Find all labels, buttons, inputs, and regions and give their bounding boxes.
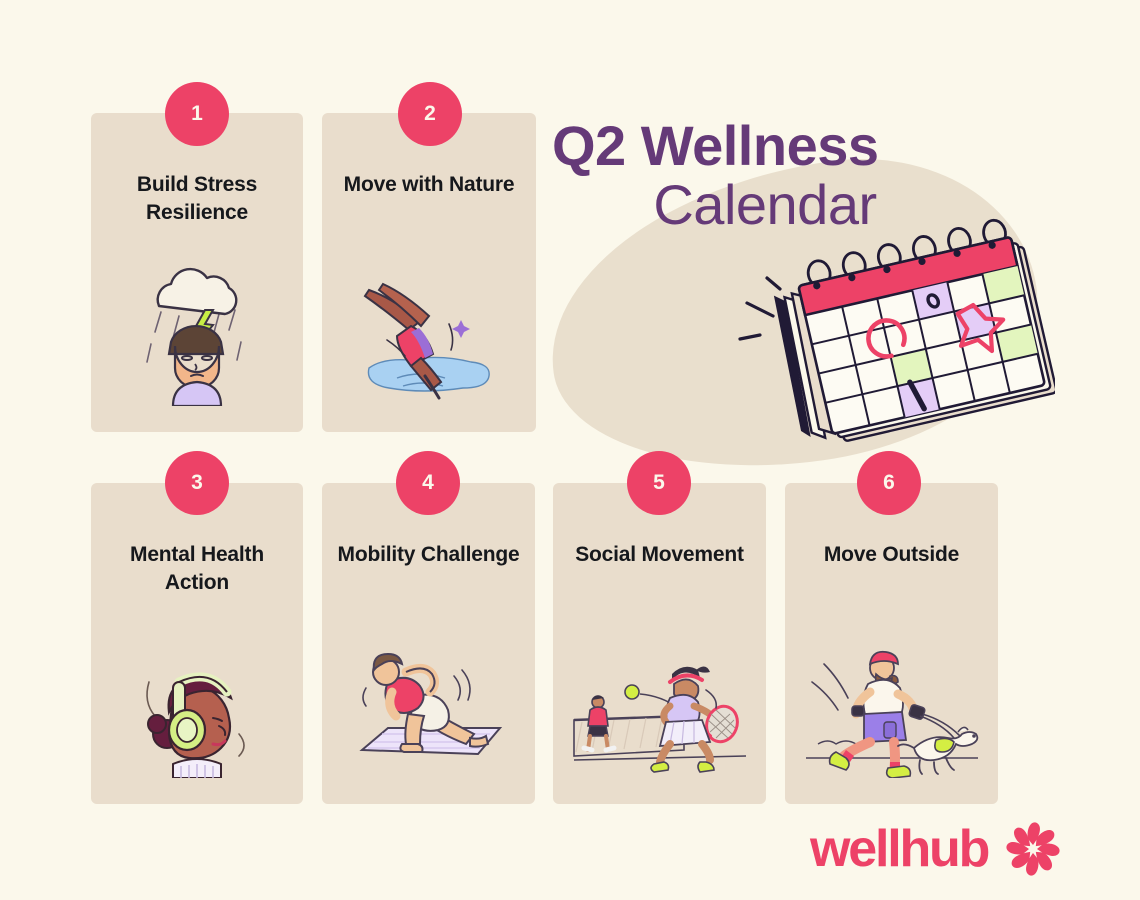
card-5-badge: 5	[627, 451, 691, 515]
card-4-illustration	[322, 638, 535, 778]
card-4[interactable]: Mobility Challenge	[322, 483, 535, 804]
card-3-illustration	[91, 638, 303, 778]
card-6-badge: 6	[857, 451, 921, 515]
card-3[interactable]: Mental Health Action	[91, 483, 303, 804]
spiral-desk-calendar-icon	[755, 205, 1055, 455]
card-2[interactable]: Move with Nature	[322, 113, 536, 432]
card-6-number: 6	[883, 471, 895, 495]
card-5[interactable]: Social Movement	[553, 483, 766, 804]
card-3-number: 3	[191, 471, 203, 495]
card-2-number: 2	[424, 102, 436, 126]
pinwheel-flower-icon	[1002, 818, 1064, 880]
card-2-title: Move with Nature	[332, 171, 526, 199]
card-6-title: Move Outside	[795, 541, 988, 569]
card-1-illustration	[91, 266, 303, 406]
card-5-title: Social Movement	[563, 541, 756, 569]
card-3-title: Mental Health Action	[101, 541, 293, 596]
card-4-number: 4	[422, 471, 434, 495]
card-6[interactable]: Move Outside	[785, 483, 998, 804]
card-1-title: Build Stress Resilience	[101, 171, 293, 226]
wellhub-wordmark: wellhub	[810, 823, 988, 875]
wellhub-logo[interactable]: wellhub	[810, 818, 1064, 880]
card-2-badge: 2	[398, 82, 462, 146]
card-2-illustration	[322, 266, 536, 406]
infographic-canvas: Q2 Wellness Calendar	[0, 0, 1140, 900]
card-6-illustration	[785, 638, 998, 778]
card-4-title: Mobility Challenge	[332, 541, 525, 569]
card-1-number: 1	[191, 102, 203, 126]
card-4-badge: 4	[396, 451, 460, 515]
card-1-badge: 1	[165, 82, 229, 146]
page-title-line-1: Q2 Wellness	[552, 118, 972, 174]
card-5-illustration	[553, 638, 766, 778]
card-5-number: 5	[653, 471, 665, 495]
card-1[interactable]: Build Stress Resilience	[91, 113, 303, 432]
card-3-badge: 3	[165, 451, 229, 515]
